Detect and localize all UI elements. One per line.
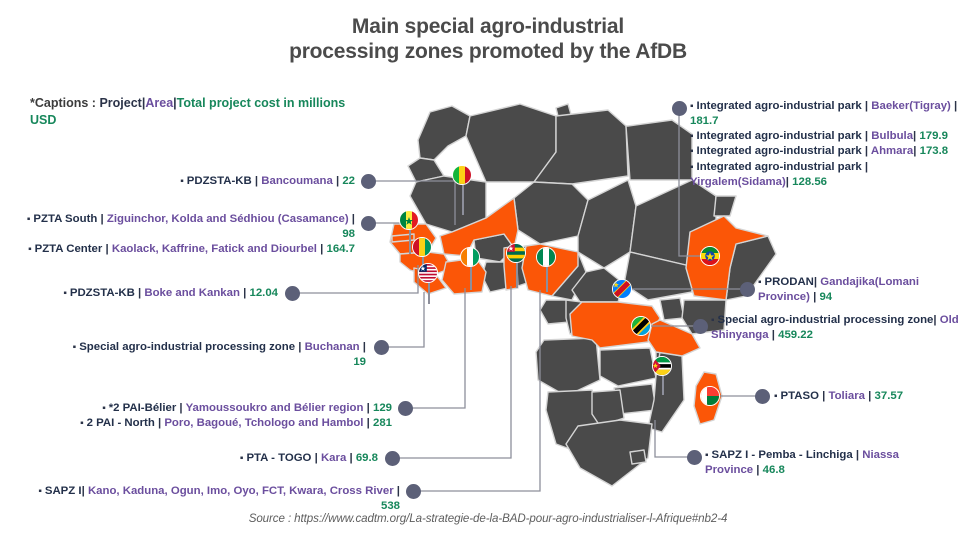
pipe-sep: | <box>102 243 112 255</box>
project-total: 22 <box>342 175 355 187</box>
project-total: 173.8 <box>920 145 949 157</box>
project-name: 2 PAI - North <box>87 417 155 429</box>
flag-stem-liberia <box>428 282 430 304</box>
label-row: ▪PZTA South | Ziguinchor, Kolda and Sédh… <box>20 212 355 242</box>
flag-stem-togo <box>516 262 518 288</box>
pipe-sep: | <box>862 130 872 142</box>
project-total: 281 <box>373 417 392 429</box>
bullet-icon: ▪ <box>690 131 694 142</box>
bullet-icon: ▪ <box>73 342 77 353</box>
dot-madagascar[interactable] <box>755 389 770 404</box>
dot-tanzania[interactable] <box>693 319 708 334</box>
project-name: *2 PAI-Bélier <box>109 402 177 414</box>
source-caption: Source : https://www.cadtm.org/La-strate… <box>0 512 976 525</box>
project-name: Integrated agro-industrial park <box>697 145 862 157</box>
dot-senegal[interactable] <box>361 216 376 231</box>
bullet-icon: ▪ <box>180 176 184 187</box>
pipe-sep: | <box>865 390 875 402</box>
bullet-icon: ▪ <box>705 450 709 461</box>
project-area: Yirgalem(Sidama) <box>690 176 786 188</box>
project-name: SAPZ I <box>45 485 82 497</box>
label-row: ▪2 PAI - North | Poro, Bagoué, Tchologo … <box>16 416 392 431</box>
label-liberia: ▪Special agro-industrial processing zone… <box>70 340 366 370</box>
project-total: 12.04 <box>249 287 278 299</box>
project-name: Special agro-industrial processing zone <box>79 341 298 353</box>
pipe-sep: | <box>155 417 165 429</box>
flag-stem-senegal <box>409 228 411 254</box>
project-total: 179.9 <box>919 130 948 142</box>
infographic-root: Main special agro-industrial processing … <box>0 0 976 549</box>
dot-mali[interactable] <box>361 174 376 189</box>
leader-liberia <box>381 292 424 347</box>
project-name: PZTA Center <box>35 243 103 255</box>
project-area: Kano, Kaduna, Ogun, Imo, Oyo, FCT, Kwara… <box>88 485 394 497</box>
label-row: ▪Integrated agro-industrial park | Ahmar… <box>690 144 965 159</box>
label-mali-bancoumana: ▪PDZSTA-KB | Bancoumana | 22 <box>20 174 355 189</box>
label-row: ▪PDZSTA-KB | Boke and Kankan | 12.04 <box>20 286 278 301</box>
project-name: Special agro-industrial processing zone <box>718 314 934 326</box>
project-total: 69.8 <box>356 452 378 464</box>
pipe-sep: | <box>954 100 957 112</box>
label-togo: ▪PTA - TOGO | Kara | 69.8 <box>100 451 378 466</box>
project-name: PTA - TOGO <box>246 452 311 464</box>
bullet-icon: ▪ <box>240 453 244 464</box>
pipe-sep: | <box>346 452 356 464</box>
project-area: Baeker(Tigray) <box>871 100 954 112</box>
project-area: Poro, Bagoué, Tchologo and Hambol <box>164 417 363 429</box>
project-area: Kaolack, Kaffrine, Fatick and Diourbel <box>112 243 317 255</box>
project-total: 538 <box>381 500 400 512</box>
pipe-sep: | <box>394 485 400 497</box>
pipe-sep: | <box>349 213 355 225</box>
dot-cote-divoire[interactable] <box>398 401 413 416</box>
project-area: Bancoumana <box>261 175 333 187</box>
project-total: 46.8 <box>763 464 785 476</box>
project-total: 181.7 <box>690 115 719 127</box>
project-total: 19 <box>353 356 366 368</box>
label-row: ▪Integrated agro-industrial park | Yirga… <box>690 160 965 190</box>
pipe-sep: | <box>853 449 863 461</box>
label-row: ▪PRODAN| Gandajika(Lomani Province) | 94 <box>758 275 972 305</box>
leader-guinea <box>292 265 418 293</box>
dot-mozambique[interactable] <box>687 450 702 465</box>
pipe-sep: | <box>252 175 262 187</box>
bullet-icon: ▪ <box>690 162 694 173</box>
dot-ethiopia[interactable] <box>672 101 687 116</box>
bullet-icon: ▪ <box>38 486 42 497</box>
project-area: Kara <box>321 452 346 464</box>
project-total: 459.22 <box>778 329 813 341</box>
label-row: ▪PZTA Center | Kaolack, Kaffrine, Fatick… <box>20 242 355 257</box>
project-name: PRODAN <box>765 276 814 288</box>
project-total: 37.57 <box>875 390 904 402</box>
pipe-sep: | <box>311 452 321 464</box>
label-row: ▪Integrated agro-industrial park | Bulbu… <box>690 129 965 144</box>
dot-liberia[interactable] <box>374 340 389 355</box>
flag-liberia <box>418 263 438 283</box>
project-area: Toliara <box>828 390 865 402</box>
pipe-sep: | <box>753 464 763 476</box>
project-name: PDZSTA-KB <box>70 287 138 299</box>
pipe-sep: | <box>363 417 373 429</box>
label-tanzania: ▪Special agro-industrial processing zone… <box>711 313 969 343</box>
pipe-sep: | <box>333 175 343 187</box>
project-total: 164.7 <box>326 243 355 255</box>
project-name: Integrated agro-industrial park <box>697 161 862 173</box>
flag-ethiopia <box>700 246 720 266</box>
label-row: ▪PTA - TOGO | Kara | 69.8 <box>100 451 378 466</box>
dot-guinea[interactable] <box>285 286 300 301</box>
flag-stem-nigeria <box>546 266 548 292</box>
pipe-sep: | <box>862 100 872 112</box>
bullet-icon: ▪ <box>774 391 778 402</box>
project-total: 128.56 <box>792 176 827 188</box>
dot-nigeria[interactable] <box>406 484 421 499</box>
leader-togo <box>392 286 511 458</box>
flag-stem-mozambique <box>662 375 664 395</box>
bullet-icon: ▪ <box>80 418 84 429</box>
pipe-sep: | <box>360 341 366 353</box>
label-row: ▪Special agro-industrial processing zone… <box>711 313 969 343</box>
flag-mali <box>452 165 472 185</box>
flag-stem-mali <box>462 185 464 215</box>
project-name: PTASO <box>781 390 819 402</box>
project-name: SAPZ I - Pemba - Linchiga <box>712 449 853 461</box>
label-guinea: ▪PDZSTA-KB | Boke and Kankan | 12.04 <box>20 286 278 301</box>
label-drc: ▪PRODAN| Gandajika(Lomani Province) | 94 <box>758 275 972 305</box>
flag-mozambique <box>652 356 672 376</box>
pipe-sep: | <box>769 329 779 341</box>
flag-drc <box>612 279 632 299</box>
pipe-sep: | <box>363 402 373 414</box>
pipe-sep: | <box>176 402 185 414</box>
project-area: Ziguinchor, Kolda and Sédhiou (Casamance… <box>107 213 349 225</box>
bullet-icon: ▪ <box>102 403 106 414</box>
project-name: PDZSTA-KB <box>187 175 252 187</box>
flag-tanzania <box>631 316 651 336</box>
project-total: 94 <box>819 291 832 303</box>
label-row: ▪*2 PAI-Bélier | Yamoussoukro and Bélier… <box>16 401 392 416</box>
label-madagascar: ▪PTASO | Toliara | 37.57 <box>774 389 970 404</box>
label-ethiopia: ▪Integrated agro-industrial park | Baeke… <box>690 99 965 189</box>
label-row: ▪PDZSTA-KB | Bancoumana | 22 <box>20 174 355 189</box>
label-cote-divoire: ▪*2 PAI-Bélier | Yamoussoukro and Bélier… <box>16 401 392 432</box>
label-row: ▪Special agro-industrial processing zone… <box>70 340 366 370</box>
project-area: Yamoussoukro and Bélier region <box>186 402 364 414</box>
bullet-icon: ▪ <box>690 101 694 112</box>
flag-guinea <box>412 237 432 257</box>
flag-senegal <box>399 210 419 230</box>
project-name: Integrated agro-industrial park <box>697 100 862 112</box>
project-area: Buchanan <box>305 341 360 353</box>
pipe-sep: | <box>97 213 107 225</box>
pipe-sep: | <box>862 145 871 157</box>
leader-nigeria <box>413 290 540 491</box>
project-area: Ahmara <box>871 145 913 157</box>
leader-cote-divoire <box>405 288 465 408</box>
dot-togo[interactable] <box>385 451 400 466</box>
project-total: 129 <box>373 402 392 414</box>
project-name: Integrated agro-industrial park <box>697 130 862 142</box>
bullet-icon: ▪ <box>711 315 715 326</box>
label-row: ▪SAPZ I| Kano, Kaduna, Ogun, Imo, Oyo, F… <box>20 484 400 514</box>
project-name: PZTA South <box>33 213 97 225</box>
flag-cote-divoire <box>460 247 480 267</box>
flag-stem-cote-divoire <box>470 266 472 290</box>
project-area: Bulbula <box>871 130 913 142</box>
label-nigeria: ▪SAPZ I| Kano, Kaduna, Ogun, Imo, Oyo, F… <box>20 484 400 514</box>
bullet-icon: ▪ <box>28 244 32 255</box>
project-area: Boke and Kankan <box>144 287 240 299</box>
label-row: ▪PTASO | Toliara | 37.57 <box>774 389 970 404</box>
bullet-icon: ▪ <box>63 288 67 299</box>
bullet-icon: ▪ <box>690 146 694 157</box>
flag-nigeria <box>536 247 556 267</box>
dot-drc[interactable] <box>740 282 755 297</box>
bullet-icon: ▪ <box>27 214 31 225</box>
label-row: ▪Integrated agro-industrial park | Baeke… <box>690 99 965 129</box>
label-senegal: ▪PZTA South | Ziguinchor, Kolda and Sédh… <box>20 212 355 257</box>
label-mozambique: ▪SAPZ I - Pemba - Linchiga | Niassa Prov… <box>705 448 945 478</box>
label-row: ▪SAPZ I - Pemba - Linchiga | Niassa Prov… <box>705 448 945 478</box>
flag-madagascar <box>700 386 720 406</box>
project-total: 98 <box>342 228 355 240</box>
bullet-icon: ▪ <box>758 277 762 288</box>
flag-togo <box>506 243 526 263</box>
pipe-sep: | <box>862 161 868 173</box>
